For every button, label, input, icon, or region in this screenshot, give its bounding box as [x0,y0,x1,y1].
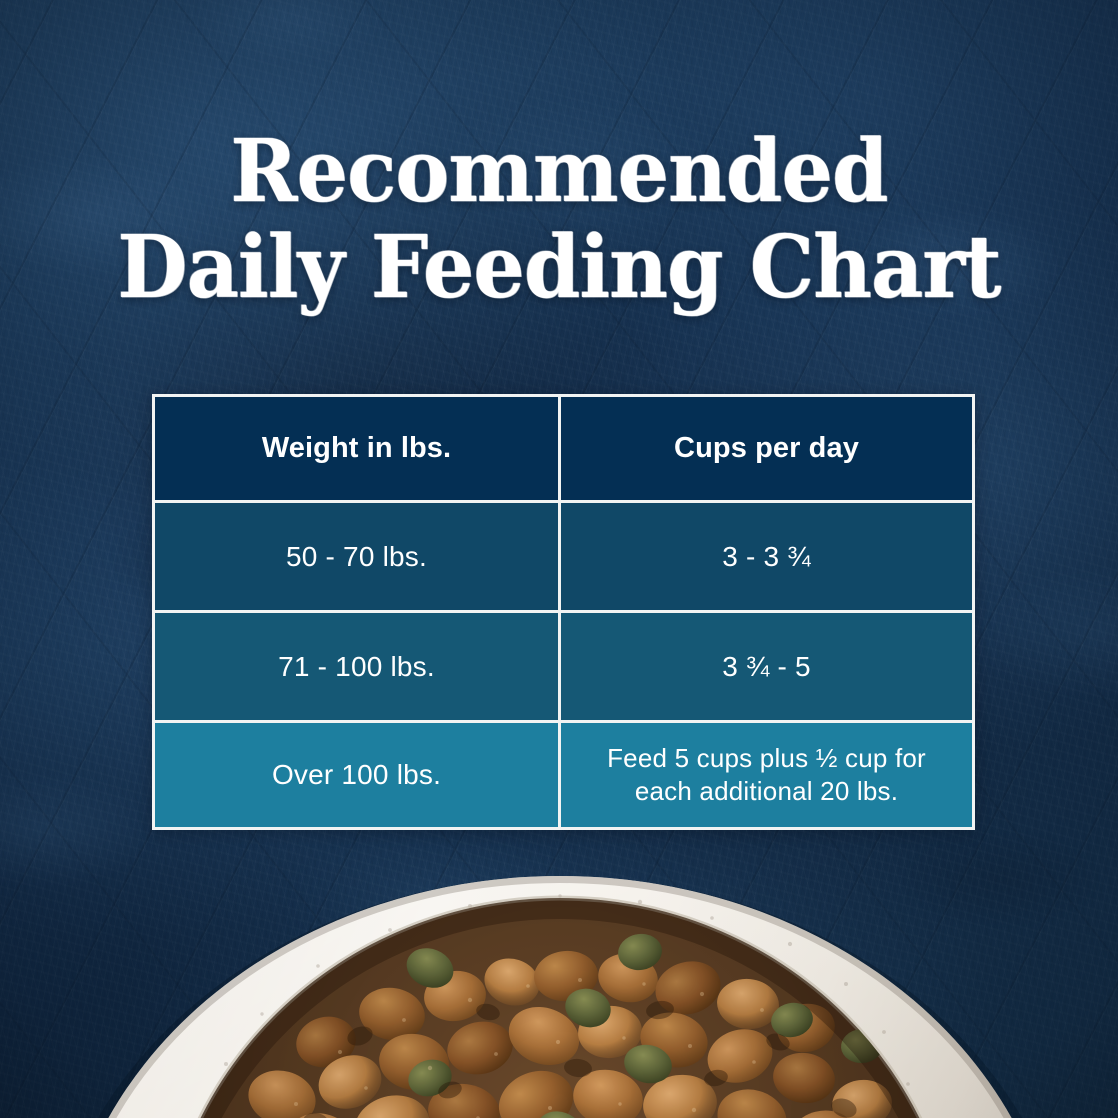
table-row: 71 - 100 lbs. 3 ¾ - 5 [154,612,974,722]
cell-cups-amount-text: 3 - 3 ¾ [561,540,972,574]
cell-cups-amount: Feed 5 cups plus ½ cup for each addition… [560,722,974,829]
cell-weight-range-text: 71 - 100 lbs. [155,650,558,684]
cell-cups-amount-text: 3 ¾ - 5 [561,650,972,684]
table-row: 50 - 70 lbs. 3 - 3 ¾ [154,502,974,612]
table-header-row: Weight in lbs. Cups per day [154,396,974,502]
column-header-weight-label: Weight in lbs. [262,432,451,464]
column-header-weight: Weight in lbs. [154,396,560,502]
table-row: Over 100 lbs. Feed 5 cups plus ½ cup for… [154,722,974,829]
cell-weight-range-text: Over 100 lbs. [155,758,558,792]
cell-weight-range: Over 100 lbs. [154,722,560,829]
column-header-cups: Cups per day [560,396,974,502]
cell-weight-range-text: 50 - 70 lbs. [155,540,558,574]
cell-cups-amount: 3 - 3 ¾ [560,502,974,612]
column-header-cups-label: Cups per day [674,432,859,464]
page-title: Recommended Daily Feeding Chart [0,124,1118,316]
feeding-chart-page: Recommended Daily Feeding Chart Weight i… [0,0,1118,1118]
feeding-chart-table: Weight in lbs. Cups per day 50 - 70 lbs.… [152,394,975,830]
page-title-line-1: Recommended [34,124,1085,220]
cell-weight-range: 50 - 70 lbs. [154,502,560,612]
cell-cups-amount: 3 ¾ - 5 [560,612,974,722]
page-title-line-2: Daily Feeding Chart [34,220,1085,316]
cell-cups-amount-text: Feed 5 cups plus ½ cup for each addition… [561,742,972,808]
cell-weight-range: 71 - 100 lbs. [154,612,560,722]
